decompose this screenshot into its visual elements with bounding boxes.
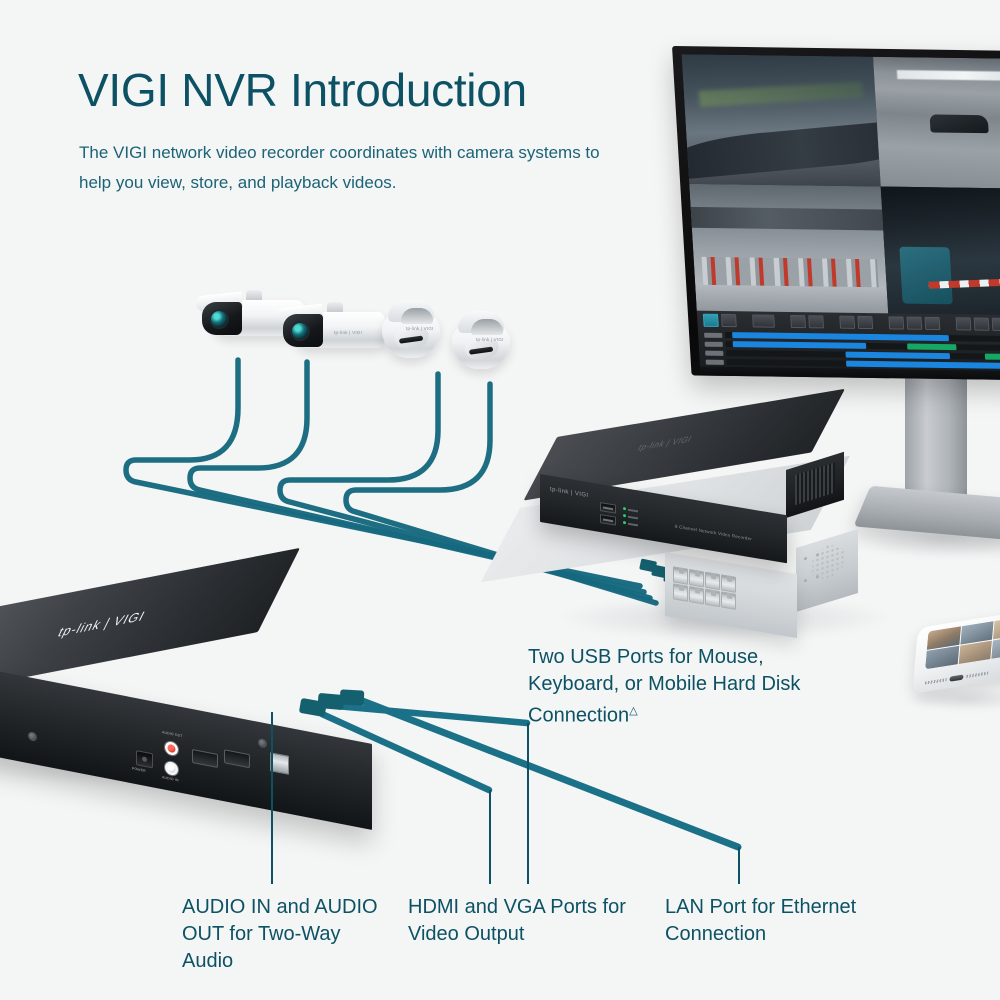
step-forward-button[interactable] bbox=[808, 315, 824, 328]
camera-cradle bbox=[388, 300, 434, 322]
screw-icon bbox=[258, 738, 267, 749]
rj45-port bbox=[721, 574, 736, 593]
volume-button[interactable] bbox=[857, 316, 873, 329]
nvr-rear-brand-logo: tp-link | VIGI bbox=[55, 608, 148, 640]
camera-brand-label: tp-link | VIGI bbox=[406, 326, 433, 331]
power-label: POWER bbox=[132, 766, 146, 773]
page-title: VIGI NVR Introduction bbox=[78, 62, 527, 118]
timeline-segment[interactable] bbox=[845, 352, 950, 359]
timeline-channel-label bbox=[705, 341, 723, 346]
clock-button[interactable] bbox=[906, 317, 922, 330]
rj45-port bbox=[689, 586, 704, 605]
usb-port bbox=[600, 502, 616, 514]
lock-button[interactable] bbox=[956, 317, 972, 330]
smartphone bbox=[912, 610, 1000, 694]
callout-video-ports: HDMI and VGA Ports for Video Output bbox=[408, 894, 648, 948]
pause-button[interactable] bbox=[721, 314, 737, 327]
filter-button[interactable] bbox=[925, 317, 941, 330]
timeline-segment[interactable] bbox=[908, 344, 957, 351]
fast-forward-button[interactable] bbox=[839, 316, 855, 329]
product-diagram: VIGI NVR Introduction The VIGI network v… bbox=[0, 0, 1000, 1000]
camera-cavity bbox=[401, 308, 433, 324]
leader-line-lan bbox=[738, 847, 740, 884]
nvr-front-brand-logo: tp-link | VIGI bbox=[550, 487, 589, 499]
rj45-port bbox=[673, 583, 688, 602]
clip-button[interactable] bbox=[992, 318, 1000, 331]
callout-audio-ports: AUDIO IN and AUDIO OUT for Two-Way Audio bbox=[182, 894, 392, 975]
camera-faceplate bbox=[283, 314, 323, 347]
nvr-rear-panel: ⎣ AUDIO OUT AUDIO IN POWER bbox=[0, 660, 372, 830]
callout-usb-superscript: △ bbox=[629, 705, 637, 717]
step-back-button[interactable] bbox=[790, 315, 806, 328]
led-indicator bbox=[623, 507, 638, 513]
timeline-segment[interactable] bbox=[846, 361, 1000, 369]
audio-out-rca-port bbox=[164, 740, 179, 758]
camera-brand-label: tp-link | VIGI bbox=[476, 337, 503, 342]
led-dot-icon bbox=[623, 507, 626, 511]
rj45-port bbox=[689, 569, 704, 588]
led-label bbox=[628, 522, 638, 526]
camera-feed-tile bbox=[873, 57, 1000, 189]
screw-icon bbox=[804, 579, 807, 583]
callout-usb-text: Two USB Ports for Mouse, Keyboard, or Mo… bbox=[528, 646, 800, 727]
charging-port-icon bbox=[949, 674, 963, 681]
led-dot-icon bbox=[623, 514, 626, 518]
led-indicator bbox=[623, 521, 638, 527]
vga-cable bbox=[336, 706, 527, 723]
playback-toolbar[interactable] bbox=[703, 314, 1000, 332]
usb-port-group bbox=[600, 502, 616, 526]
screw-icon bbox=[28, 731, 37, 742]
camera-feed-tile bbox=[689, 184, 888, 316]
camera-lens-icon bbox=[399, 335, 423, 343]
leader-line-audio bbox=[271, 712, 273, 884]
snapshot-button[interactable] bbox=[888, 316, 904, 329]
timeline-channel-label bbox=[704, 332, 722, 337]
screw-icon bbox=[804, 557, 807, 561]
callout-usb-ports: Two USB Ports for Mouse, Keyboard, or Mo… bbox=[528, 644, 828, 730]
tag-button[interactable] bbox=[974, 318, 990, 331]
speaker-grille-icon bbox=[925, 678, 947, 685]
vga-port bbox=[224, 749, 250, 768]
nvr-playback-ui bbox=[697, 311, 1000, 372]
speaker-grille-icon bbox=[966, 672, 988, 679]
audio-out-label: AUDIO OUT bbox=[162, 730, 183, 738]
camera-cradle bbox=[458, 311, 504, 333]
camera-mount-bracket bbox=[327, 302, 343, 312]
led-indicator bbox=[623, 514, 638, 520]
vent-icon bbox=[810, 539, 846, 586]
timeline-channel-label bbox=[705, 350, 723, 355]
vent-icon bbox=[795, 463, 835, 506]
led-indicator-group bbox=[623, 507, 638, 527]
led-label bbox=[628, 508, 638, 512]
usb-port bbox=[600, 514, 616, 526]
timeline-channel-label bbox=[706, 359, 724, 364]
camera-lens-icon bbox=[211, 311, 227, 327]
callout-lan-port: LAN Port for Ethernet Connection bbox=[665, 894, 915, 948]
playback-timeline[interactable] bbox=[704, 331, 1000, 371]
camera-feed-tile bbox=[881, 187, 1000, 319]
camera-feed-tile bbox=[681, 54, 880, 186]
rj45-port bbox=[705, 572, 720, 591]
rj45-port bbox=[721, 591, 736, 610]
led-label bbox=[628, 515, 638, 519]
switch-rj45-port-group bbox=[673, 566, 736, 610]
rj45-port bbox=[705, 589, 720, 608]
power-jack bbox=[136, 750, 153, 768]
led-dot-icon bbox=[623, 521, 626, 525]
camera-faceplate bbox=[202, 302, 242, 335]
hdmi-port bbox=[192, 749, 218, 768]
camera-mount-bracket bbox=[246, 290, 262, 300]
rj45-port bbox=[673, 566, 688, 585]
camera-lens-icon bbox=[469, 346, 493, 354]
leader-line-hdmi bbox=[489, 790, 491, 884]
poe-switch-side bbox=[796, 529, 858, 612]
camera-cavity bbox=[471, 319, 503, 335]
nvr-rear-top-panel: tp-link | VIGI bbox=[0, 548, 300, 696]
monitor bbox=[672, 46, 1000, 381]
play-button[interactable] bbox=[703, 314, 719, 327]
audio-in-rca-port bbox=[164, 760, 179, 778]
speed-selector[interactable] bbox=[752, 314, 775, 327]
leader-line-vga bbox=[527, 723, 529, 884]
camera-lens-icon bbox=[292, 323, 308, 339]
audio-in-label: AUDIO IN bbox=[162, 775, 179, 782]
monitor-screen bbox=[681, 54, 1000, 319]
camera-brand-label: tp-link | VIGI bbox=[334, 330, 362, 335]
nvr-model-text: 8 Channel Network Video Recorder bbox=[675, 524, 752, 542]
nvr-side-panel bbox=[786, 452, 844, 518]
nvr-top-brand-logo: tp-link | VIGI bbox=[636, 434, 693, 453]
screw-icon bbox=[816, 575, 819, 579]
page-subtitle: The VIGI network video recorder coordina… bbox=[79, 138, 619, 198]
timeline-segment[interactable] bbox=[733, 341, 866, 349]
timeline-segment[interactable] bbox=[985, 354, 1000, 361]
